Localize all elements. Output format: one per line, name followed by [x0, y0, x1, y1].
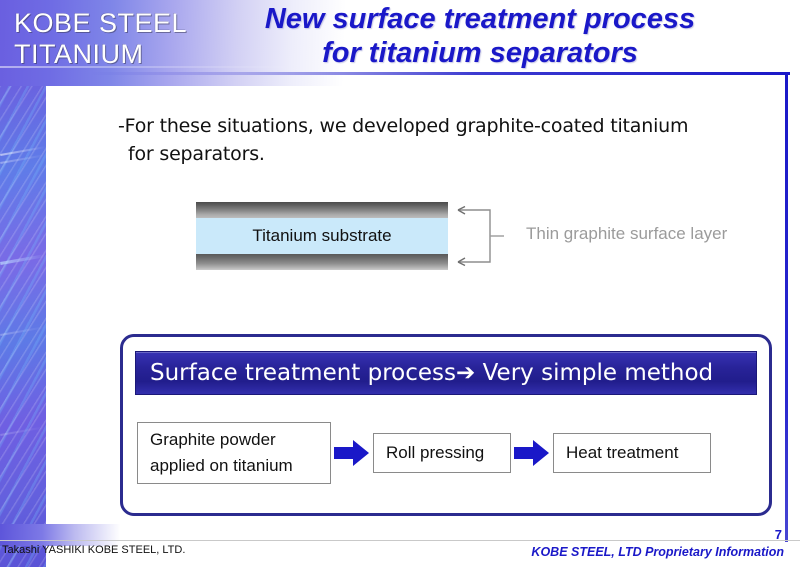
- paragraph-line-2: for separators.: [118, 140, 748, 168]
- right-arrow-icon: [332, 438, 372, 468]
- band-streak: [0, 426, 46, 436]
- right-edge-rule: [785, 72, 788, 542]
- banner-arrow-icon: ➔: [456, 360, 475, 386]
- callout-bracket: [448, 202, 508, 270]
- footer-gradient-band: [0, 524, 120, 546]
- step-1-line-1: Graphite powder: [150, 427, 276, 453]
- bottom-graphite-layer-bar: [196, 254, 448, 270]
- title-underline-rule: [90, 72, 790, 75]
- process-step-box-1: Graphite powder applied on titanium: [137, 422, 331, 484]
- band-streak: [0, 154, 46, 164]
- process-step-box-3: Heat treatment: [553, 433, 711, 473]
- process-flow: Graphite powder applied on titanium Roll…: [137, 415, 757, 491]
- footer-author: Takashi YASHIKI KOBE STEEL, LTD.: [2, 544, 185, 556]
- band-streak: [0, 326, 46, 336]
- body-paragraph: -For these situations, we developed grap…: [118, 112, 748, 168]
- band-streak: [0, 254, 46, 265]
- graphite-layer-callout-label: Thin graphite surface layer: [526, 224, 727, 244]
- process-banner: Surface treatment process➔ Very simple m…: [135, 351, 757, 395]
- banner-text: Surface treatment process➔ Very simple m…: [136, 360, 713, 386]
- banner-text-after: Very simple method: [483, 360, 714, 386]
- titanium-substrate-block: Titanium substrate: [196, 218, 448, 254]
- paragraph-line-1: -For these situations, we developed grap…: [118, 115, 688, 137]
- banner-text-before: Surface treatment process: [150, 360, 456, 386]
- flow-arrow-icon-1: [331, 438, 373, 468]
- step-1-line-2: applied on titanium: [150, 453, 293, 479]
- top-graphite-layer-bar: [196, 202, 448, 218]
- process-step-box-2: Roll pressing: [373, 433, 511, 473]
- page-number: 7: [775, 527, 782, 542]
- bracket-svg: [448, 202, 508, 270]
- right-arrow-icon: [512, 438, 552, 468]
- footer-divider: [0, 540, 800, 541]
- process-section-box: Surface treatment process➔ Very simple m…: [120, 334, 772, 516]
- logo-line-1: KOBE STEEL: [14, 8, 187, 38]
- title-line-1: New surface treatment process: [265, 3, 695, 35]
- layer-diagram: Titanium substrate Thin graphite surface…: [196, 202, 756, 284]
- substrate-label: Titanium substrate: [252, 226, 391, 246]
- step-2-label: Roll pressing: [386, 443, 484, 463]
- slide-title: New surface treatment process for titani…: [180, 2, 780, 70]
- flow-arrow-icon-2: [511, 438, 553, 468]
- step-3-label: Heat treatment: [566, 443, 678, 463]
- slide-canvas: KOBE STEEL TITANIUM New surface treatmen…: [0, 0, 800, 567]
- footer-proprietary-notice: KOBE STEEL, LTD Proprietary Information: [531, 545, 784, 559]
- title-line-2: for titanium separators: [180, 36, 780, 70]
- layer-stack: Titanium substrate: [196, 202, 448, 270]
